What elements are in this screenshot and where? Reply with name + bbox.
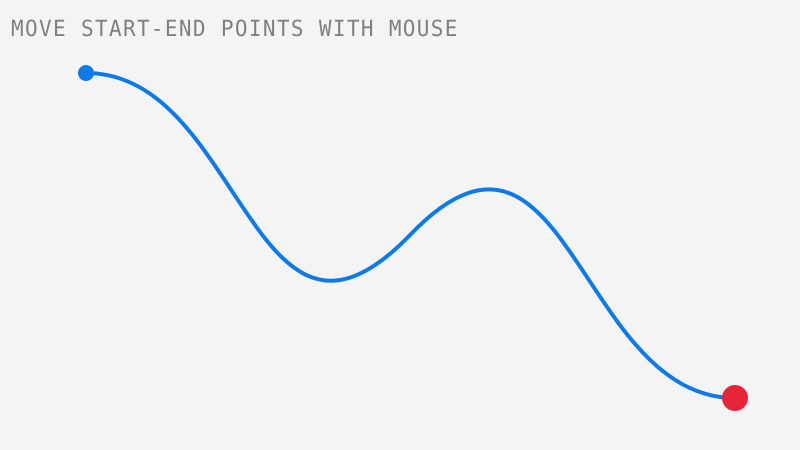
curve-svg-layer <box>0 0 800 450</box>
end-point-handle[interactable] <box>722 385 748 411</box>
bezier-demo-app: MOVE START-END POINTS WITH MOUSE <box>0 0 800 450</box>
drawing-canvas[interactable]: MOVE START-END POINTS WITH MOUSE <box>0 0 800 450</box>
page-title: MOVE START-END POINTS WITH MOUSE <box>11 15 459 43</box>
start-point-handle[interactable] <box>78 65 94 81</box>
